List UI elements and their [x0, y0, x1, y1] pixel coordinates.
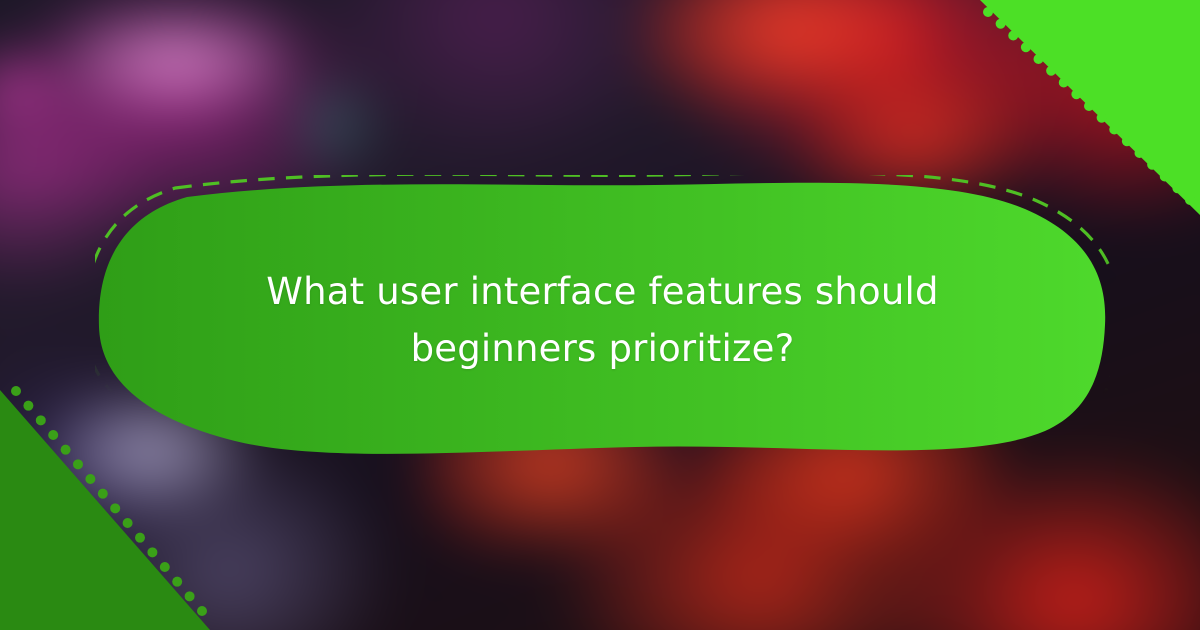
question-callout: What user interface features should begi… [95, 175, 1110, 460]
social-card-canvas: What user interface features should begi… [0, 0, 1200, 630]
question-line-2: beginners prioritize? [215, 320, 990, 377]
question-line-1: What user interface features should [215, 263, 990, 320]
background-led-usd [60, 10, 290, 110]
background-led-teal-accent [290, 80, 380, 170]
background-led-usd-accent [0, 60, 60, 110]
question-text: What user interface features should begi… [95, 263, 1110, 377]
